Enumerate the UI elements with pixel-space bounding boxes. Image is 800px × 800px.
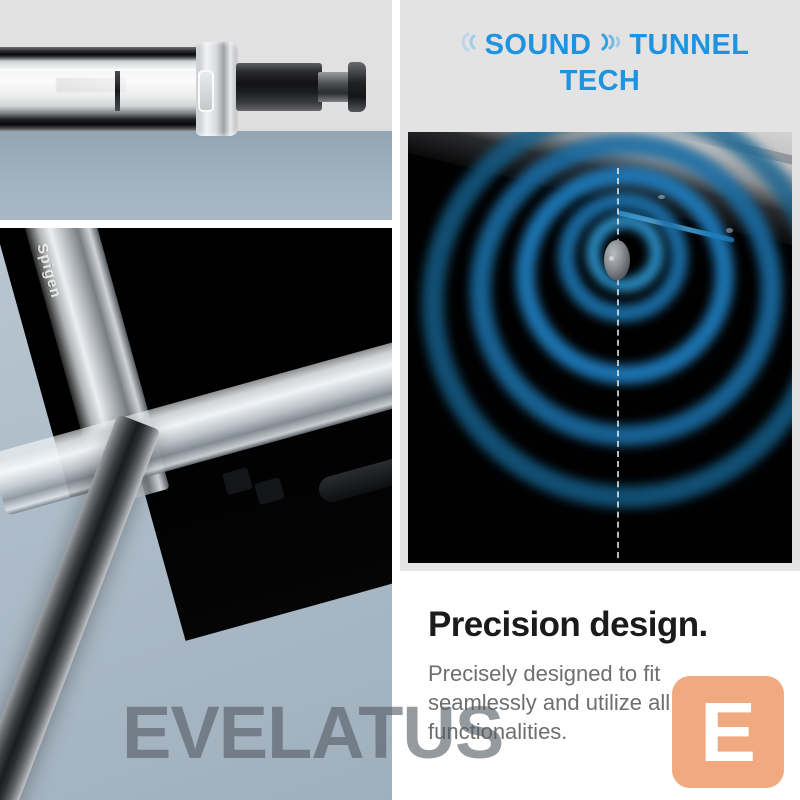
wave-close-icon — [595, 29, 625, 64]
copy-headline: Precision design. — [428, 605, 708, 645]
spen-end-knob — [348, 62, 366, 112]
tunnel-word: TUNNEL — [629, 29, 749, 61]
case-pen-slot-opening — [198, 70, 214, 112]
wave-open-icon — [455, 29, 481, 64]
sound-wave-4 — [422, 132, 792, 508]
sound-heading-line2: TECH — [400, 64, 800, 99]
center-alignment-dashed-line — [617, 168, 619, 558]
sensor-dot-1 — [658, 195, 665, 199]
panel-precision-copy: Precision design. Precisely designed to … — [400, 571, 800, 800]
panel-pen-slot: Spigen — [0, 228, 392, 800]
panel-pen-insert — [0, 0, 392, 220]
case-rib — [115, 71, 120, 111]
panel-sound-tunnel: SOUND TUNNEL TECH — [400, 0, 800, 571]
panel-background-lower — [0, 131, 392, 220]
copy-body: Precisely designed to fit seamlessly and… — [428, 659, 728, 746]
sound-heading-line1: SOUND TUNNEL — [400, 28, 800, 64]
phone-screen-dark — [408, 132, 792, 563]
spen-shaft — [236, 63, 322, 111]
front-camera-pill — [604, 240, 630, 280]
sound-tunnel-heading: SOUND TUNNEL TECH — [400, 28, 800, 99]
sound-word: SOUND — [485, 29, 592, 61]
spen-collar — [318, 72, 350, 102]
product-collage: Spigen SOUND — [0, 0, 800, 800]
sensor-dot-2 — [726, 228, 733, 233]
